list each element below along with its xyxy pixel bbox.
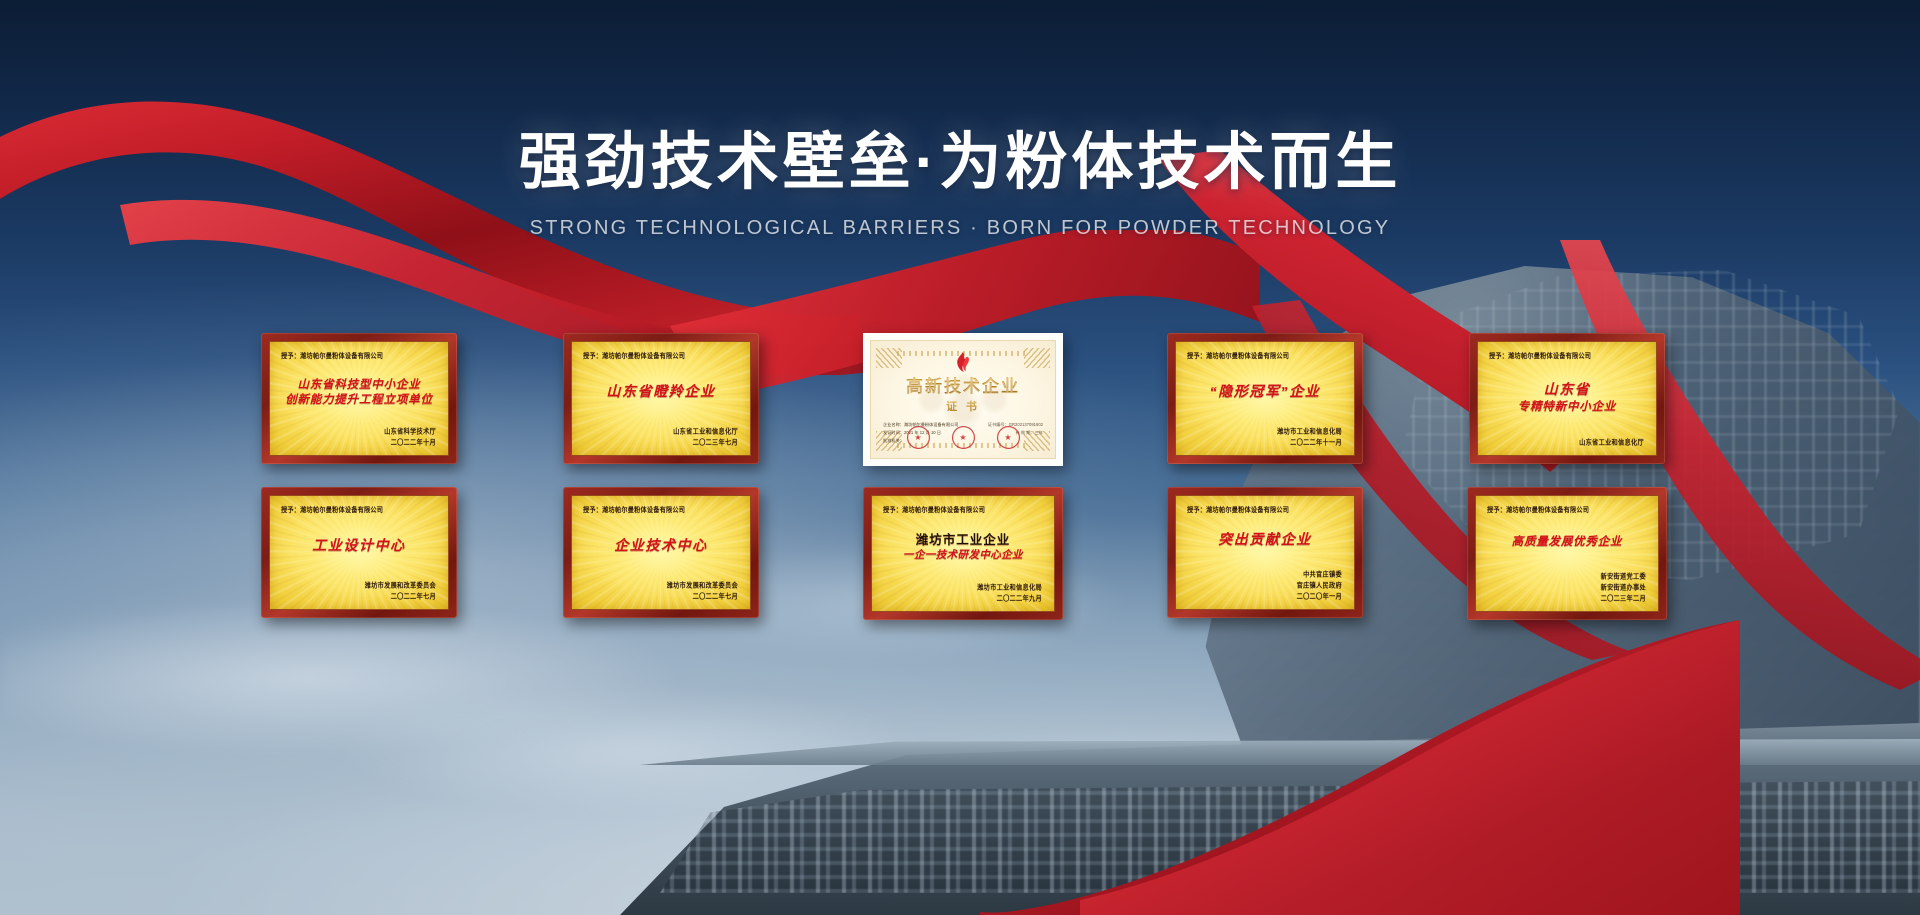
plaque-footer: 山东省工业和信息化厅 二〇二三年七月 <box>581 427 738 449</box>
plaque-issuer: 山东省工业和信息化厅 <box>1487 438 1644 450</box>
plaque-title-line: 山东省 <box>1544 382 1591 400</box>
plaque-date: 二〇二二年九月 <box>881 594 1042 606</box>
plaque-footer: 山东省科学技术厅 二〇二二年十月 <box>279 427 436 449</box>
plaque-title: 工业设计中心 <box>279 512 439 581</box>
plaque-title-line: 潍坊市工业企业 <box>916 533 1011 549</box>
red-flame-emblem-icon <box>954 352 972 372</box>
plaque-gold-face: 授予：潍坊帕尔曼粉体设备有限公司 山东省科技型中小企业 创新能力提升工程立项单位… <box>269 341 449 456</box>
plaque-grant-line: 授予：潍坊帕尔曼粉体设备有限公司 <box>1487 504 1649 514</box>
hero-text-block: 强劲技术壁垒·为粉体技术而生 STRONG TECHNOLOGICAL BARR… <box>0 128 1920 240</box>
plaque-gold-face: 授予：潍坊帕尔曼粉体设备有限公司 突出贡献企业 中共官庄镇委 官庄镇人民政府 二… <box>1175 495 1355 610</box>
banner-stage: 强劲技术壁垒·为粉体技术而生 STRONG TECHNOLOGICAL BARR… <box>0 0 1920 915</box>
plaque-grant-line: 授予：潍坊帕尔曼粉体设备有限公司 <box>281 504 439 514</box>
plaque-gold-face: 授予：潍坊帕尔曼粉体设备有限公司 山东省 专精特新中小企业 山东省工业和信息化厅 <box>1477 341 1657 456</box>
award-cell: 授予：潍坊帕尔曼粉体设备有限公司 突出贡献企业 中共官庄镇委 官庄镇人民政府 二… <box>1114 487 1416 620</box>
award-plaque-gongye-sheji[interactable]: 授予：潍坊帕尔曼粉体设备有限公司 工业设计中心 潍坊市发展和改革委员会 二〇二二… <box>261 487 457 618</box>
page-subtitle: STRONG TECHNOLOGICAL BARRIERS · BORN FOR… <box>0 217 1920 240</box>
plaque-gold-face: 授予：潍坊帕尔曼粉体设备有限公司 潍坊市工业企业 一企一技术研发中心企业 潍坊市… <box>871 495 1055 612</box>
award-cell: 高新技术企业 证 书 企业名称：潍坊帕尔曼粉体设备有限公司 证书编号：GR202… <box>812 333 1114 466</box>
award-plaque-qiye-jishu[interactable]: 授予：潍坊帕尔曼粉体设备有限公司 企业技术中心 潍坊市发展和改革委员会 二〇二二… <box>563 487 759 618</box>
award-plaque-tuchu-gongxian[interactable]: 授予：潍坊帕尔曼粉体设备有限公司 突出贡献企业 中共官庄镇委 官庄镇人民政府 二… <box>1167 487 1363 618</box>
plaque-footer: 新安街道党工委 新安街道办事处 二〇二三年二月 <box>1485 572 1646 605</box>
plaque-date: 二〇二二年七月 <box>279 592 436 604</box>
certificate-face: 高新技术企业 证 书 企业名称：潍坊帕尔曼粉体设备有限公司 证书编号：GR202… <box>870 340 1056 459</box>
plaque-footer: 潍坊市发展和改革委员会 二〇二二年七月 <box>279 581 436 603</box>
plaque-date: 二〇二三年二月 <box>1485 594 1646 606</box>
award-plaque-yiqi-yijishu[interactable]: 授予：潍坊帕尔曼粉体设备有限公司 潍坊市工业企业 一企一技术研发中心企业 潍坊市… <box>863 487 1063 620</box>
award-plaque-gaozhiliang-fazhan[interactable]: 授予：潍坊帕尔曼粉体设备有限公司 高质量发展优秀企业 新安街道党工委 新安街道办… <box>1467 487 1667 620</box>
plaque-date: 二〇二二年十一月 <box>1185 438 1342 450</box>
official-seal-icon <box>997 426 1020 449</box>
award-cell: 授予：潍坊帕尔曼粉体设备有限公司 潍坊市工业企业 一企一技术研发中心企业 潍坊市… <box>812 487 1114 620</box>
plaque-grant-line: 授予：潍坊帕尔曼粉体设备有限公司 <box>1187 504 1345 514</box>
plaque-gold-face: 授予：潍坊帕尔曼粉体设备有限公司 高质量发展优秀企业 新安街道党工委 新安街道办… <box>1475 495 1659 612</box>
plaque-grant-line: 授予：潍坊帕尔曼粉体设备有限公司 <box>583 350 741 360</box>
plaque-date: 二〇二二年七月 <box>581 592 738 604</box>
award-plaque-yinxing-guanjun[interactable]: 授予：潍坊帕尔曼粉体设备有限公司 “隐形冠军”企业 潍坊市工业和信息化局 二〇二… <box>1167 333 1363 464</box>
award-cell: 授予：潍坊帕尔曼粉体设备有限公司 高质量发展优秀企业 新安街道党工委 新安街道办… <box>1416 487 1718 620</box>
plaque-gold-face: 授予：潍坊帕尔曼粉体设备有限公司 山东省瞪羚企业 山东省工业和信息化厅 二〇二三… <box>571 341 751 456</box>
award-cell: 授予：潍坊帕尔曼粉体设备有限公司 山东省瞪羚企业 山东省工业和信息化厅 二〇二三… <box>510 333 812 466</box>
plaque-footer: 潍坊市工业和信息化局 二〇二二年十一月 <box>1185 427 1342 449</box>
plaque-grant-line: 授予：潍坊帕尔曼粉体设备有限公司 <box>1187 350 1345 360</box>
plaque-date: 二〇二〇年一月 <box>1185 592 1342 604</box>
awards-grid: 授予：潍坊帕尔曼粉体设备有限公司 山东省科技型中小企业 创新能力提升工程立项单位… <box>208 333 1720 620</box>
plaque-gold-face: 授予：潍坊帕尔曼粉体设备有限公司 工业设计中心 潍坊市发展和改革委员会 二〇二二… <box>269 495 449 610</box>
award-cell: 授予：潍坊帕尔曼粉体设备有限公司 “隐形冠军”企业 潍坊市工业和信息化局 二〇二… <box>1114 333 1416 466</box>
award-plaque-sd-zhuangjingtexin[interactable]: 授予：潍坊帕尔曼粉体设备有限公司 山东省 专精特新中小企业 山东省工业和信息化厅 <box>1469 333 1665 464</box>
plaque-grant-line: 授予：潍坊帕尔曼粉体设备有限公司 <box>583 504 741 514</box>
certificate-subtitle: 证 书 <box>883 398 1043 414</box>
plaque-title: 山东省瞪羚企业 <box>581 358 741 427</box>
plaque-grant-line: 授予：潍坊帕尔曼粉体设备有限公司 <box>883 504 1045 514</box>
plaque-date: 二〇二三年七月 <box>581 438 738 450</box>
official-seal-icon <box>952 426 975 449</box>
plaque-title-line: 高质量发展优秀企业 <box>1512 535 1623 549</box>
plaque-title-line: 创新能力提升工程立项单位 <box>285 393 433 407</box>
award-cell: 授予：潍坊帕尔曼粉体设备有限公司 企业技术中心 潍坊市发展和改革委员会 二〇二二… <box>510 487 812 620</box>
plaque-gold-face: 授予：潍坊帕尔曼粉体设备有限公司 企业技术中心 潍坊市发展和改革委员会 二〇二二… <box>571 495 751 610</box>
plaque-date: 二〇二二年十月 <box>279 438 436 450</box>
award-cell: 授予：潍坊帕尔曼粉体设备有限公司 山东省科技型中小企业 创新能力提升工程立项单位… <box>208 333 510 466</box>
plaque-title: 山东省科技型中小企业 创新能力提升工程立项单位 <box>279 358 439 427</box>
plaque-title-line: 工业设计中心 <box>312 538 406 556</box>
plaque-title-line: 企业技术中心 <box>614 538 708 556</box>
plaque-title: 山东省 专精特新中小企业 <box>1487 358 1647 438</box>
plaque-grant-line: 授予：潍坊帕尔曼粉体设备有限公司 <box>1489 350 1647 360</box>
plaque-footer: 中共官庄镇委 官庄镇人民政府 二〇二〇年一月 <box>1185 570 1342 603</box>
official-seal-icon <box>907 426 930 449</box>
award-certificate-gaoxin[interactable]: 高新技术企业 证 书 企业名称：潍坊帕尔曼粉体设备有限公司 证书编号：GR202… <box>863 333 1063 466</box>
plaque-title: “隐形冠军”企业 <box>1185 358 1345 427</box>
plaque-gold-face: 授予：潍坊帕尔曼粉体设备有限公司 “隐形冠军”企业 潍坊市工业和信息化局 二〇二… <box>1175 341 1355 456</box>
plaque-grant-line: 授予：潍坊帕尔曼粉体设备有限公司 <box>281 350 439 360</box>
plaque-footer: 山东省工业和信息化厅 <box>1487 438 1644 449</box>
plaque-title-line: 山东省科技型中小企业 <box>298 378 421 392</box>
award-cell: 授予：潍坊帕尔曼粉体设备有限公司 山东省 专精特新中小企业 山东省工业和信息化厅 <box>1416 333 1718 466</box>
plaque-footer: 潍坊市工业和信息化局 二〇二二年九月 <box>881 583 1042 605</box>
plaque-title-line: 专精特新中小企业 <box>1518 400 1616 414</box>
plaque-title-line: 山东省瞪羚企业 <box>606 384 715 402</box>
award-plaque-sd-dengling[interactable]: 授予：潍坊帕尔曼粉体设备有限公司 山东省瞪羚企业 山东省工业和信息化厅 二〇二三… <box>563 333 759 464</box>
plaque-title-line: 一企一技术研发中心企业 <box>903 549 1023 562</box>
plaque-footer: 潍坊市发展和改革委员会 二〇二二年七月 <box>581 581 738 603</box>
plaque-title: 高质量发展优秀企业 <box>1485 512 1649 572</box>
plinth-carved-frieze <box>660 781 1920 893</box>
plaque-title-line: 突出贡献企业 <box>1218 532 1312 550</box>
awards-row-2: 授予：潍坊帕尔曼粉体设备有限公司 工业设计中心 潍坊市发展和改革委员会 二〇二二… <box>208 487 1720 620</box>
page-title: 强劲技术壁垒·为粉体技术而生 <box>0 128 1920 197</box>
certificate-title: 高新技术企业 <box>883 372 1043 397</box>
plaque-title: 企业技术中心 <box>581 512 741 581</box>
award-cell: 授予：潍坊帕尔曼粉体设备有限公司 工业设计中心 潍坊市发展和改革委员会 二〇二二… <box>208 487 510 620</box>
plaque-title-line: “隐形冠军”企业 <box>1210 384 1321 402</box>
plaque-title: 潍坊市工业企业 一企一技术研发中心企业 <box>881 512 1045 583</box>
award-plaque-sd-kejixing[interactable]: 授予：潍坊帕尔曼粉体设备有限公司 山东省科技型中小企业 创新能力提升工程立项单位… <box>261 333 457 464</box>
certificate-seals <box>871 426 1055 449</box>
plaque-title: 突出贡献企业 <box>1185 512 1345 570</box>
awards-row-1: 授予：潍坊帕尔曼粉体设备有限公司 山东省科技型中小企业 创新能力提升工程立项单位… <box>208 333 1720 466</box>
